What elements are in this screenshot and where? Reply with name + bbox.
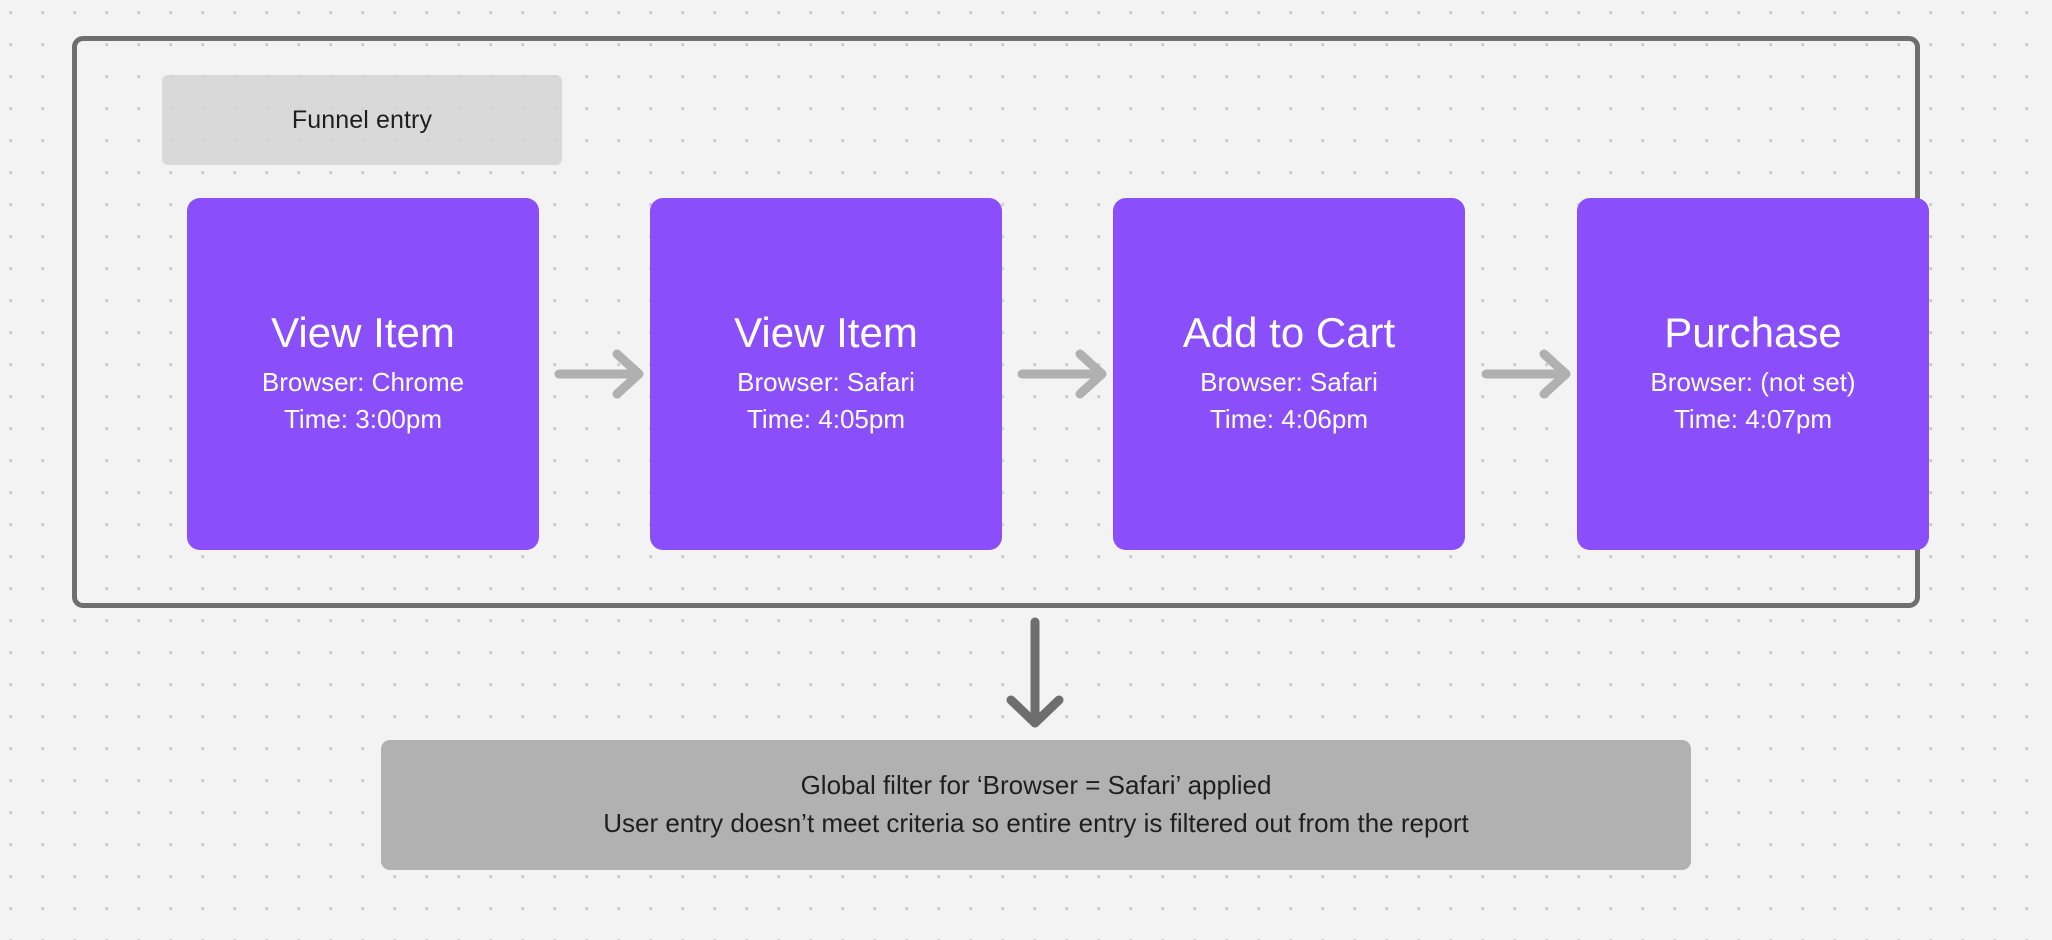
step-title: View Item bbox=[734, 310, 918, 355]
arrow-right-icon bbox=[554, 347, 650, 401]
step-title: Add to Cart bbox=[1183, 310, 1395, 355]
funnel-entry-label: Funnel entry bbox=[162, 75, 562, 165]
step-browser: Browser: Safari bbox=[737, 364, 915, 401]
funnel-step-card[interactable]: Add to Cart Browser: Safari Time: 4:06pm bbox=[1113, 198, 1465, 550]
step-time: Time: 4:06pm bbox=[1210, 401, 1368, 438]
funnel-step-card[interactable]: View Item Browser: Safari Time: 4:05pm bbox=[650, 198, 1002, 550]
step-browser: Browser: Chrome bbox=[262, 364, 464, 401]
funnel-step-card[interactable]: View Item Browser: Chrome Time: 3:00pm bbox=[187, 198, 539, 550]
step-title: Purchase bbox=[1664, 310, 1841, 355]
step-title: View Item bbox=[271, 310, 455, 355]
filter-banner-line-1: Global filter for ‘Browser = Safari’ app… bbox=[801, 767, 1272, 805]
global-filter-banner: Global filter for ‘Browser = Safari’ app… bbox=[381, 740, 1691, 870]
arrow-right-icon bbox=[1481, 347, 1577, 401]
step-time: Time: 4:07pm bbox=[1674, 401, 1832, 438]
step-time: Time: 3:00pm bbox=[284, 401, 442, 438]
arrow-right-icon bbox=[1017, 347, 1113, 401]
step-browser: Browser: (not set) bbox=[1650, 364, 1855, 401]
arrow-down-icon bbox=[1000, 616, 1070, 732]
funnel-step-card[interactable]: Purchase Browser: (not set) Time: 4:07pm bbox=[1577, 198, 1929, 550]
filter-banner-line-2: User entry doesn’t meet criteria so enti… bbox=[603, 805, 1469, 843]
step-time: Time: 4:05pm bbox=[747, 401, 905, 438]
step-browser: Browser: Safari bbox=[1200, 364, 1378, 401]
funnel-entry-label-text: Funnel entry bbox=[292, 106, 432, 135]
